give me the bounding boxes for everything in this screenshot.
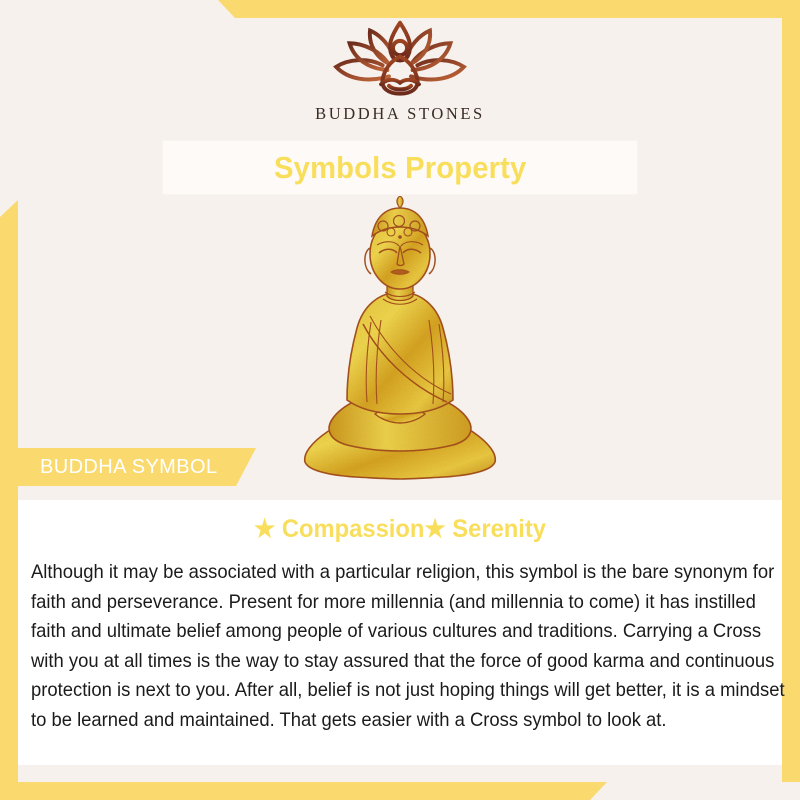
seated-golden-buddha-statue-icon bbox=[275, 196, 525, 496]
section-subheading: ★ Compassion★ Serenity bbox=[37, 514, 763, 544]
brand-name: BUDDHA STONES bbox=[315, 104, 485, 124]
frame-accent-top bbox=[218, 0, 800, 18]
infographic-page: BUDDHA STONES Symbols Property bbox=[0, 0, 800, 800]
title-banner: Symbols Property bbox=[163, 141, 637, 194]
section-tab-buddha-symbol[interactable]: BUDDHA SYMBOL bbox=[18, 448, 256, 486]
brand-logo: BUDDHA STONES bbox=[0, 18, 800, 124]
content-card: ★ Compassion★ Serenity Although it may b… bbox=[18, 500, 782, 765]
section-body-text: Although it may be associated with a par… bbox=[31, 558, 791, 735]
frame-accent-bottom bbox=[0, 782, 607, 800]
lotus-meditation-icon bbox=[320, 18, 480, 100]
section-tab-label: BUDDHA SYMBOL bbox=[40, 456, 217, 479]
page-title: Symbols Property bbox=[274, 150, 526, 186]
